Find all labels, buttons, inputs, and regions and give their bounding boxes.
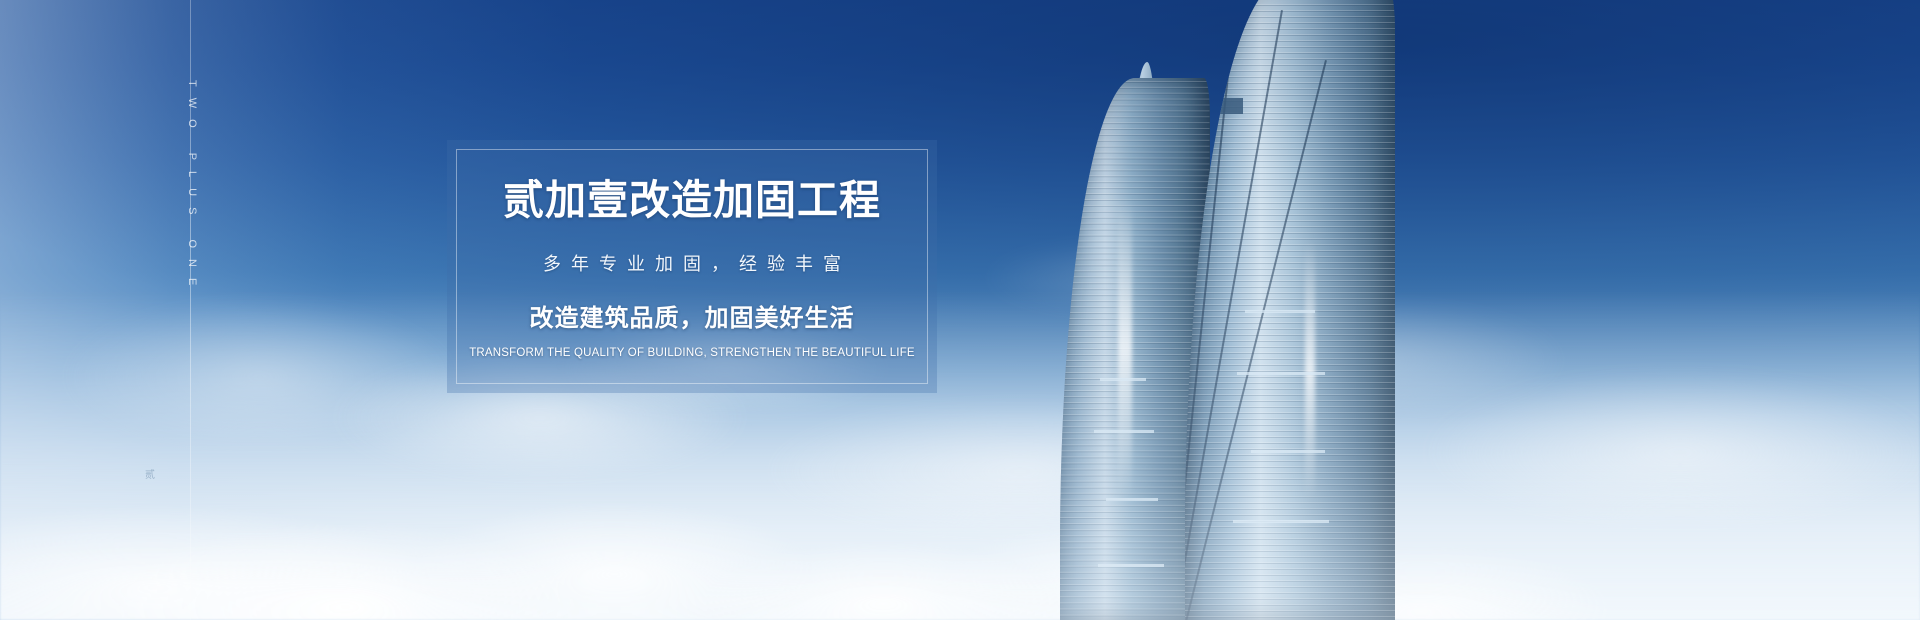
hero-text-panel: 贰加壹改造加固工程 多年专业加固，经验丰富 改造建筑品质，加固美好生活 TRAN… (447, 140, 937, 393)
hero-title: 贰加壹改造加固工程 (503, 178, 881, 224)
hero-banner: TWO PLUS ONE 贰 贰加壹改造加固工程 多年专业加固，经验丰富 改造建… (0, 0, 1920, 620)
hero-slogan-en: TRANSFORM THE QUALITY OF BUILDING, STREN… (469, 347, 915, 359)
brand-corner-mark: 贰 (145, 466, 156, 481)
tower-right (1185, 0, 1395, 620)
tower-right-shading (1185, 0, 1395, 620)
hero-subtitle: 多年专业加固，经验丰富 (533, 250, 851, 276)
panel-content: 贰加壹改造加固工程 多年专业加固，经验丰富 改造建筑品质，加固美好生活 TRAN… (447, 140, 937, 393)
hero-slogan-cn: 改造建筑品质，加固美好生活 (530, 298, 855, 333)
brand-vertical-text: TWO PLUS ONE (186, 80, 198, 296)
skyscrapers-graphic (0, 0, 1920, 620)
